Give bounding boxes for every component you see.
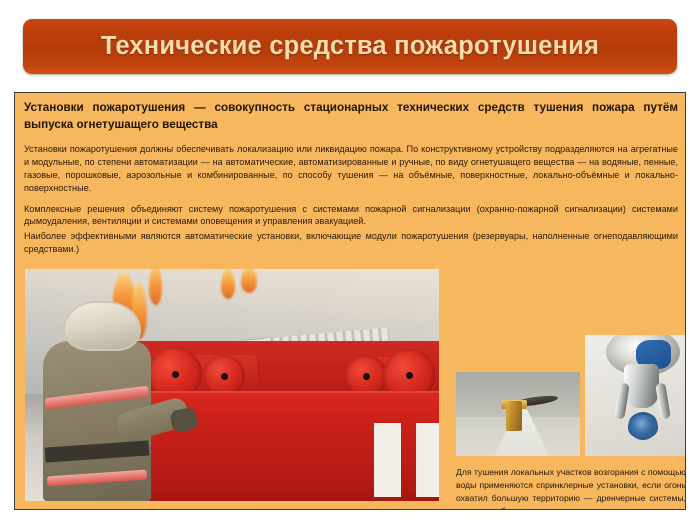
presentation-slide: Технические средства пожаротушения Устан… xyxy=(0,0,700,525)
truck-stripe xyxy=(374,423,401,497)
photo-background-flame xyxy=(221,269,235,299)
lead-definition-text: Установки пожаротушения — совокупность с… xyxy=(24,100,678,134)
paragraph-effective-systems: Наиболее эффективными являются автоматич… xyxy=(24,230,678,256)
content-panel: Установки пожаротушения — совокупность с… xyxy=(14,92,686,510)
page-title: Технические средства пожаротушения xyxy=(101,32,599,61)
sprinkler-chrome-photo xyxy=(585,335,686,456)
photo-background-flame xyxy=(149,269,162,305)
firefighter-helmet xyxy=(63,301,141,351)
paragraph-complex-solutions: Комплексные решения объединяют систему п… xyxy=(24,203,678,229)
sprinkler-head xyxy=(506,401,522,431)
sprinkler-brass-photo xyxy=(456,372,580,456)
sprinkler-body xyxy=(624,364,659,408)
text-block: Установки пожаротушения — совокупность с… xyxy=(24,100,678,264)
content-panel-background: Установки пожаротушения — совокупность с… xyxy=(15,93,685,509)
paragraph-classification: Установки пожаротушения должны обеспечив… xyxy=(24,143,678,195)
sprinkler-frame-arm xyxy=(655,383,671,420)
sprinkler-caption: Для тушения локальных участков возгорани… xyxy=(456,466,686,510)
sprinkler-deflector-disc xyxy=(630,415,656,437)
photo-background-flame xyxy=(241,269,257,293)
truck-stripe xyxy=(416,423,439,497)
firefighter-photo xyxy=(25,269,439,501)
slide-title-banner: Технические средства пожаротушения xyxy=(23,19,677,74)
